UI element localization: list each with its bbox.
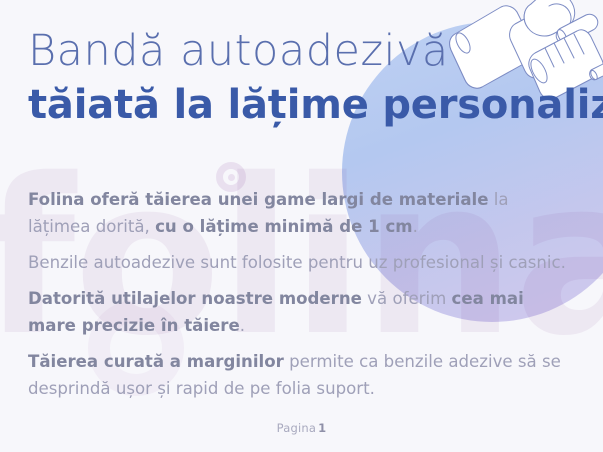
body-text-block: Folina oferă tăierea unei game largi de … bbox=[28, 186, 576, 402]
page-title-line-1: Bandă autoadezivă bbox=[28, 26, 588, 77]
text-run-bold: cu o lățime minimă de 1 cm bbox=[155, 217, 413, 236]
footer-page-label: Pagina bbox=[277, 421, 317, 435]
text-run-bold: Folina oferă tăierea unei game largi de … bbox=[28, 190, 489, 209]
page-title-line-2: tăiată la lățime personalizată bbox=[28, 81, 588, 130]
text-run-regular: . bbox=[240, 316, 245, 335]
body-paragraph-2: Benzile autoadezive sunt folosite pentru… bbox=[28, 249, 576, 276]
footer-page-number: 1 bbox=[318, 421, 326, 435]
page-footer: Pagina1 bbox=[0, 421, 603, 435]
text-run-bold: Datorită utilajelor noastre moderne bbox=[28, 289, 362, 308]
body-paragraph-1: Folina oferă tăierea unei game largi de … bbox=[28, 186, 576, 240]
text-run-regular: Benzile autoadezive sunt folosite pentru… bbox=[28, 253, 566, 272]
body-paragraph-4: Tăierea curată a marginilor permite ca b… bbox=[28, 348, 576, 402]
body-paragraph-3: Datorită utilajelor noastre moderne vă o… bbox=[28, 285, 576, 339]
text-run-bold: Tăierea curată a marginilor bbox=[28, 352, 284, 371]
text-run-regular: vă oferim bbox=[362, 289, 452, 308]
title-block: Bandă autoadezivă tăiată la lățime perso… bbox=[28, 26, 588, 130]
slide-canvas: folina bbox=[0, 0, 603, 452]
text-run-regular: . bbox=[413, 217, 418, 236]
